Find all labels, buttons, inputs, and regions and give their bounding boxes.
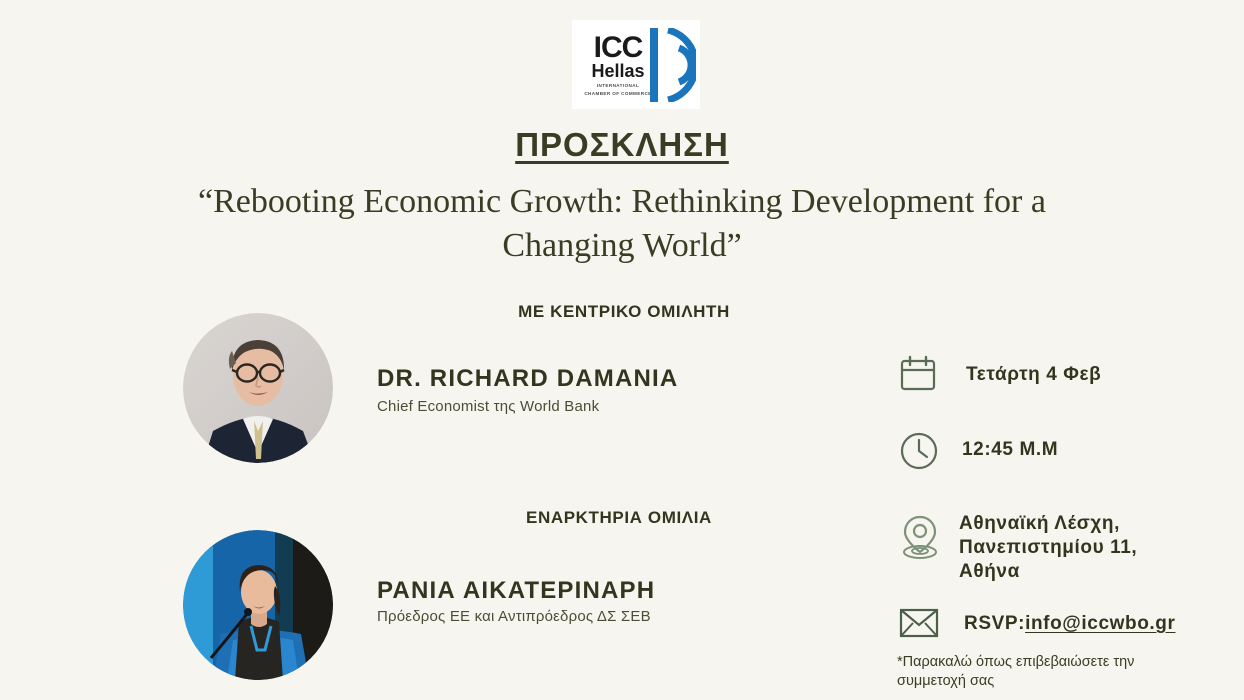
speaker-name-keynote: DR. RICHARD DAMANIA xyxy=(377,365,678,393)
clock-icon xyxy=(898,430,942,472)
invitation-poster: ICC Hellas INTERNATIONAL CHAMBER OF COMM… xyxy=(0,0,1244,700)
speaker-photo-keynote xyxy=(183,313,333,463)
event-location-value: Αθηναϊκή Λέσχη, Πανεπιστημίου 11, Αθήνα xyxy=(942,512,1137,584)
envelope-icon xyxy=(898,606,942,640)
event-time-value: 12:45 Μ.Μ xyxy=(942,430,1058,462)
speaker-role-keynote: Chief Economist της World Bank xyxy=(377,398,599,415)
logo-wordmark: ICC Hellas INTERNATIONAL CHAMBER OF COMM… xyxy=(578,34,658,97)
calendar-icon xyxy=(898,355,942,393)
event-time-row: 12:45 Μ.Μ xyxy=(898,430,1058,472)
icc-hellas-logo: ICC Hellas INTERNATIONAL CHAMBER OF COMM… xyxy=(572,20,700,109)
event-location-row: Αθηναϊκή Λέσχη, Πανεπιστημίου 11, Αθήνα xyxy=(898,512,1137,584)
keynote-section-label: ΜΕ ΚΕΝΤΡΙΚΟ ΟΜΙΛΗΤΗ xyxy=(360,302,888,322)
event-date-row: Τετάρτη 4 Φεβ xyxy=(898,355,1101,393)
icc-arc-mark-icon xyxy=(648,28,696,102)
event-date-value: Τετάρτη 4 Φεβ xyxy=(942,355,1101,387)
logo-hellas-text: Hellas xyxy=(578,62,658,81)
speaker-photo-opening xyxy=(183,530,333,680)
event-title: “Rebooting Economic Growth: Rethinking D… xyxy=(150,180,1094,268)
logo-international-text: INTERNATIONAL xyxy=(578,83,658,89)
logo-chamber-text: CHAMBER OF COMMERCE xyxy=(578,91,658,97)
rsvp-row: RSVP:info@iccwbo.gr xyxy=(898,606,1176,640)
speaker-role-opening: Πρόεδρος ΕΕ και Αντιπρόεδρος ΔΣ ΣΕΒ xyxy=(377,608,651,625)
location-pin-icon xyxy=(898,512,942,564)
logo-icc-text: ICC xyxy=(578,34,658,62)
rsvp-email-link[interactable]: info@iccwbo.gr xyxy=(1025,613,1175,634)
page-title: ΠΡΟΣΚΛΗΣΗ xyxy=(0,126,1244,164)
rsvp-text: RSVP:info@iccwbo.gr xyxy=(942,606,1176,636)
rsvp-footnote: *Παρακαλώ όπως επιβεβαιώσετε την συμμετο… xyxy=(897,653,1177,691)
speaker-name-opening: ΡΑΝΙΑ ΑΙΚΑΤΕΡΙΝΑΡΗ xyxy=(377,577,655,605)
rsvp-prefix: RSVP: xyxy=(964,613,1025,634)
opening-section-label: ΕΝΑΡΚΤΗΡΙΑ ΟΜΙΛΙΑ xyxy=(360,508,878,528)
